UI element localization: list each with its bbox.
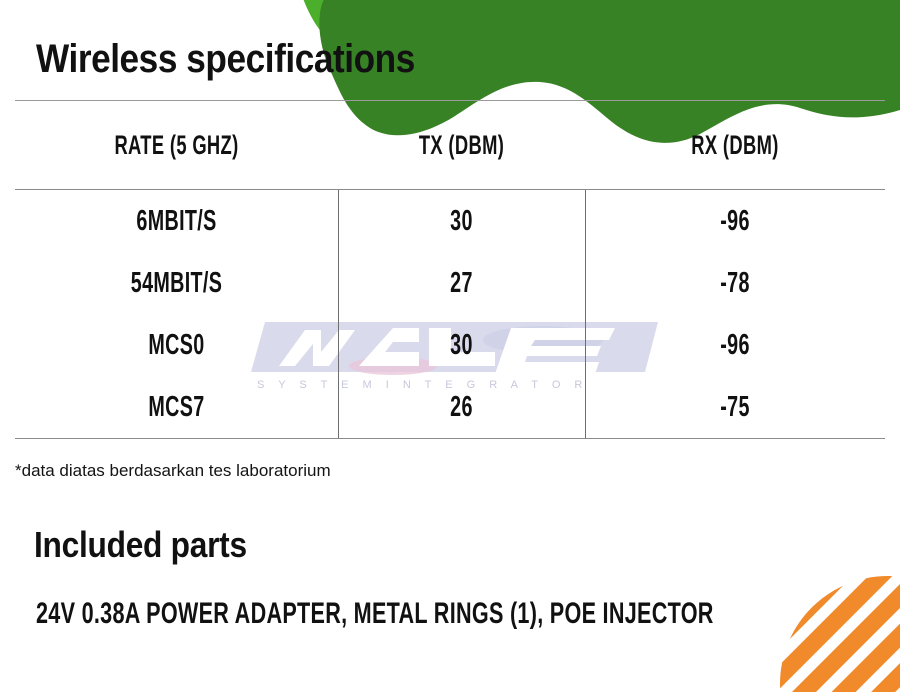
table-body: 6MBIT/S 30 -96 54MBIT/S 27 -78 MCS0 30 -…	[15, 190, 885, 438]
table-header: RATE (5 GHZ) TX (DBM) RX (DBM)	[15, 101, 885, 189]
slide-content: Wireless specifications RATE (5 GHZ) TX …	[0, 0, 900, 692]
cell-rate: 54MBIT/S	[67, 267, 287, 300]
table-rows: 6MBIT/S 30 -96 54MBIT/S 27 -78 MCS0 30 -…	[15, 190, 885, 438]
cell-tx: 27	[378, 267, 546, 300]
included-parts-list: 24V 0.38A POWER ADAPTER, METAL RINGS (1)…	[36, 597, 714, 631]
cell-tx: 30	[378, 205, 546, 238]
cell-rx: -96	[633, 205, 837, 238]
cell-tx: 26	[378, 391, 546, 424]
table-footnote: *data diatas berdasarkan tes laboratoriu…	[15, 461, 331, 481]
cell-rate: MCS0	[67, 329, 287, 362]
cell-rx: -75	[633, 391, 837, 424]
column-header-tx: TX (DBM)	[378, 130, 546, 161]
column-header-rx: RX (DBM)	[633, 130, 837, 161]
cell-tx: 30	[378, 329, 546, 362]
page-title: Wireless specifications	[36, 36, 415, 82]
included-parts-heading: Included parts	[34, 524, 247, 566]
cell-rx: -78	[633, 267, 837, 300]
table-bottom-rule	[15, 438, 885, 439]
wireless-specifications-table: RATE (5 GHZ) TX (DBM) RX (DBM) 6MBIT/S 3…	[15, 100, 885, 439]
cell-rx: -96	[633, 329, 837, 362]
cell-rate: MCS7	[67, 391, 287, 424]
table-row: MCS7 26 -75	[15, 376, 885, 438]
table-header-row: RATE (5 GHZ) TX (DBM) RX (DBM)	[15, 101, 885, 189]
table-row: 6MBIT/S 30 -96	[15, 190, 885, 252]
cell-rate: 6MBIT/S	[67, 205, 287, 238]
table-row: 54MBIT/S 27 -78	[15, 252, 885, 314]
table-row: MCS0 30 -96	[15, 314, 885, 376]
column-header-rate: RATE (5 GHZ)	[67, 130, 287, 161]
